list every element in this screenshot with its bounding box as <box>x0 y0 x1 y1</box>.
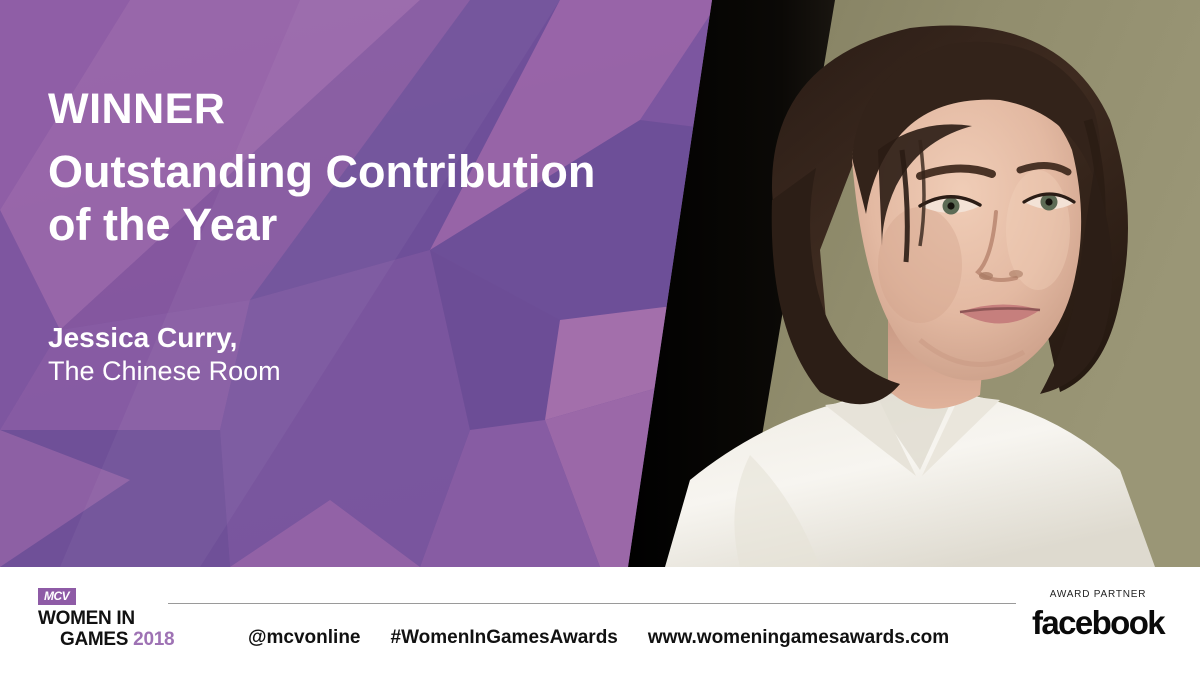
award-partner-label: AWARD PARTNER <box>1018 589 1178 600</box>
award-slide: WINNER Outstanding Contribution of the Y… <box>0 0 1200 675</box>
hashtag-link[interactable]: #WomenInGamesAwards <box>391 627 618 649</box>
footer-bar: MCV WOMEN IN GAMES 2018 @mcvonline #Wome… <box>0 567 1200 675</box>
twitter-handle-link[interactable]: @mcvonline <box>248 627 361 649</box>
footer-divider <box>168 603 1016 604</box>
award-title-line-2: of the Year <box>48 198 648 251</box>
slide-stage: WINNER Outstanding Contribution of the Y… <box>0 0 1200 567</box>
winner-block: Jessica Curry, The Chinese Room <box>48 320 648 389</box>
winner-organisation: The Chinese Room <box>48 355 648 389</box>
award-title: Outstanding Contribution of the Year <box>48 145 648 251</box>
website-link[interactable]: www.womeningamesawards.com <box>648 627 949 649</box>
winner-photo <box>620 0 1200 567</box>
award-title-line-1: Outstanding Contribution <box>48 145 648 198</box>
winner-name: Jessica Curry, <box>48 320 648 355</box>
headline-block: WINNER Outstanding Contribution of the Y… <box>48 88 648 251</box>
logo-line-games-year: GAMES 2018 <box>60 629 178 650</box>
mcv-women-in-games-logo: MCV WOMEN IN GAMES 2018 <box>38 587 178 651</box>
facebook-logo: facebook <box>1018 606 1178 639</box>
logo-year: 2018 <box>133 629 174 650</box>
award-partner-block: AWARD PARTNER facebook <box>1018 589 1178 639</box>
mcv-badge: MCV <box>38 588 76 605</box>
logo-games-word: GAMES <box>60 629 128 650</box>
footer-links: @mcvonline #WomenInGamesAwards www.women… <box>248 623 949 653</box>
winner-kicker: WINNER <box>48 88 648 131</box>
logo-line-women-in: WOMEN IN <box>38 608 178 629</box>
